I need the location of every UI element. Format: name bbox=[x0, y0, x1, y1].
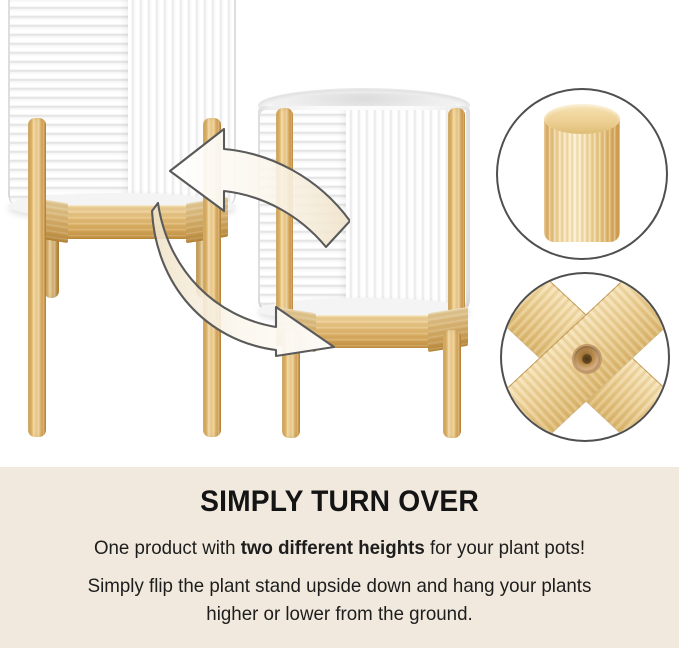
turn-over-swap-arrows bbox=[150, 125, 350, 360]
bamboo-cross-brace bbox=[500, 272, 670, 442]
subtitle-secondary: Simply flip the plant stand upside down … bbox=[14, 560, 666, 628]
cross-joint-detail bbox=[500, 272, 670, 442]
subtitle-primary-emphasis: two different heights bbox=[241, 537, 425, 559]
caption-panel: SIMPLY TURN OVER One product with two di… bbox=[0, 467, 679, 648]
short-stand-leg-front-right bbox=[443, 330, 461, 438]
product-infographic: SIMPLY TURN OVER One product with two di… bbox=[0, 0, 679, 648]
headline: SIMPLY TURN OVER bbox=[20, 467, 658, 519]
leg-cap-shaft bbox=[544, 118, 620, 242]
subtitle-primary-after: for your plant pots! bbox=[425, 537, 585, 559]
brass-screw-icon bbox=[572, 344, 602, 374]
subtitle-primary: One product with two different heights f… bbox=[14, 519, 666, 560]
subtitle-primary-before: One product with bbox=[94, 537, 241, 559]
short-stand-leg-top-right bbox=[448, 108, 465, 323]
swap-arrow-upper bbox=[170, 129, 350, 247]
leg-cap-top-face bbox=[544, 104, 620, 134]
product-photo-area bbox=[0, 0, 679, 467]
tall-stand-leg-front-left bbox=[28, 118, 46, 437]
bamboo-leg-cap-detail bbox=[496, 88, 668, 260]
bamboo-leg-cap bbox=[544, 104, 620, 244]
